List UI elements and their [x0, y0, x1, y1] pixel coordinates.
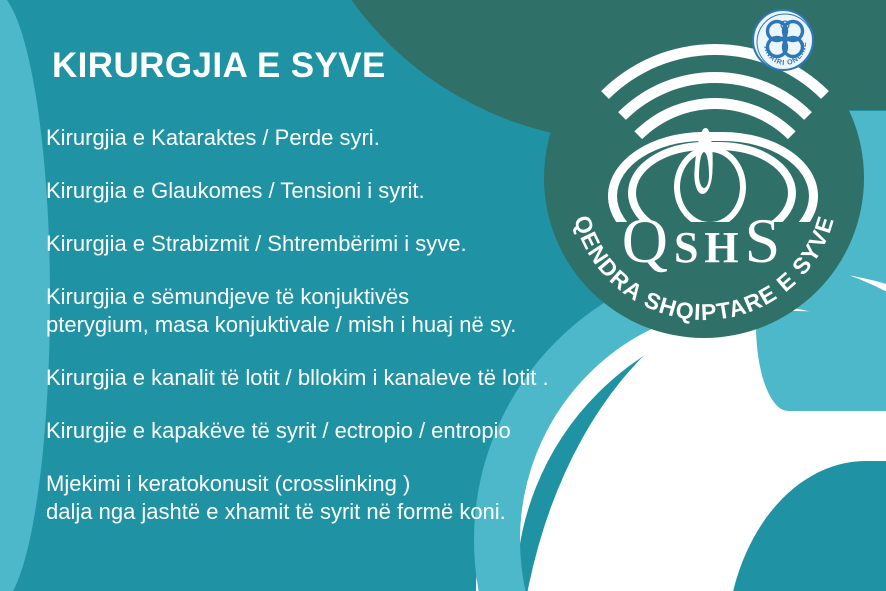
list-item: Kirurgjia e Glaukomes / Tensioni i syrit…: [46, 177, 706, 205]
panairi-online-badge: • PANAIRI ONLINE •: [752, 9, 814, 71]
page-title: KIRURGJIA E SYVE: [52, 46, 386, 86]
list-item: Kirurgjia e sëmundjeve të konjuktivës pt…: [46, 283, 706, 339]
list-item: Kirurgjie e kapakëve të syrit / ectropio…: [46, 417, 706, 445]
list-item: Kirurgjia e Strabizmit / Shtrembërimi i …: [46, 230, 706, 258]
list-item: Kirurgjia e Kataraktes / Perde syri.: [46, 124, 706, 152]
badge-graphic: • PANAIRI ONLINE •: [754, 11, 816, 73]
poster-canvas: QSHS QENDRA SHQIPTARE E SYVE • PANAIRI O…: [0, 0, 886, 591]
list-item: Kirurgjia e kanalit të lotit / bllokim i…: [46, 364, 706, 392]
left-accent-band: [0, 0, 50, 591]
bottom-right-corner-fill: [726, 461, 886, 591]
service-list: Kirurgjia e Kataraktes / Perde syri. Kir…: [46, 124, 706, 526]
list-item: Mjekimi i keratokonusit (crosslinking ) …: [46, 470, 706, 526]
